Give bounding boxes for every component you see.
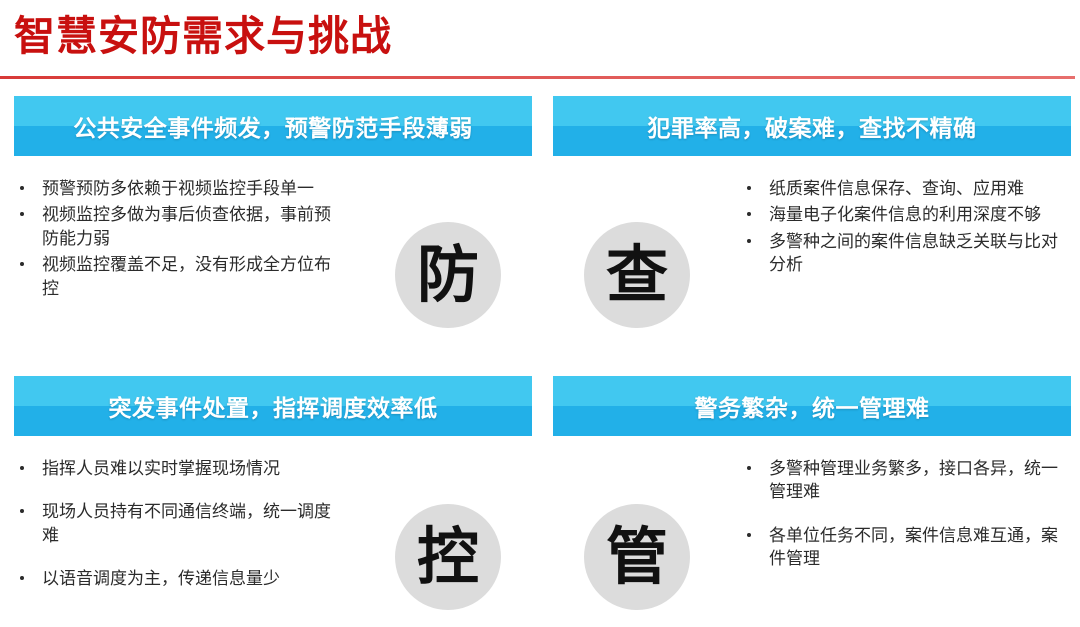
list-item: 预警预防多依赖于视频监控手段单一 (14, 178, 344, 201)
quadrant-header-bar-bottom-left: 突发事件处置，指挥调度效率低 (14, 376, 532, 436)
list-item: 指挥人员难以实时掌握现场情况 (14, 458, 344, 481)
list-item: 各单位任务不同，案件信息难互通，案 件管理 (741, 525, 1071, 572)
quadrant-header-label: 公共安全事件频发，预警防范手段薄弱 (73, 109, 473, 143)
list-item: 多警种之间的案件信息缺乏关联与比对分析 (741, 231, 1071, 278)
bullet-dot-icon (747, 239, 751, 243)
glyph-character: 管 (606, 526, 668, 588)
bullet-list-top-right: 纸质案件信息保存、查询、应用难 海量电子化案件信息的利用深度不够 多警种之间的案… (741, 178, 1071, 278)
glyph-character: 防 (417, 244, 479, 306)
page-title: 智慧安防需求与挑战 (14, 6, 392, 68)
list-item-text: 多警种之间的案件信息缺乏关联与比对分析 (769, 232, 1058, 275)
quadrant-bottom-right: 警务繁杂，统一管理难 多警种管理业务繁多，接口各异，统一管理难 各单位任务不同，… (553, 376, 1071, 592)
slide-canvas: 智慧安防需求与挑战 公共安全事件频发，预警防范手段薄弱 预警预防多依赖于视频监控… (0, 0, 1080, 627)
quadrant-header-label: 警务繁杂，统一管理难 (695, 389, 930, 423)
quadrant-header-label: 犯罪率高，破案难，查找不精确 (648, 109, 977, 143)
list-item-text: 预警预防多依赖于视频监控手段单一 (42, 179, 314, 199)
glyph-character: 查 (606, 244, 668, 306)
list-item: 视频监控覆盖不足，没有形成全方位布控 (14, 254, 344, 301)
bullet-dot-icon (747, 533, 751, 537)
quadrant-body-bottom-left: 指挥人员难以实时掌握现场情况 现场人员持有不同通信终端，统一调度难 以语音调度为… (14, 458, 532, 592)
list-item-text: 海量电子化案件信息的利用深度不够 (769, 205, 1041, 225)
list-item-text: 各单位任务不同，案件信息难互通，案 件管理 (769, 526, 1058, 569)
glyph-circle-fang: 防 (395, 222, 501, 328)
list-item-text: 视频监控覆盖不足，没有形成全方位布控 (42, 255, 331, 298)
list-item-text: 纸质案件信息保存、查询、应用难 (769, 179, 1024, 199)
quadrant-top-right: 犯罪率高，破案难，查找不精确 纸质案件信息保存、查询、应用难 海量电子化案件信息… (553, 96, 1071, 281)
glyph-character: 控 (417, 526, 479, 588)
bullet-dot-icon (20, 509, 24, 513)
quadrant-body-top-left: 预警预防多依赖于视频监控手段单一 视频监控多做为事后侦查依据，事前预防能力弱 视… (14, 178, 532, 301)
bullet-dot-icon (20, 262, 24, 266)
bullet-list-bottom-right: 多警种管理业务繁多，接口各异，统一管理难 各单位任务不同，案件信息难互通，案 件… (741, 458, 1071, 572)
bullet-dot-icon (20, 212, 24, 216)
glyph-circle-guan: 管 (584, 504, 690, 610)
list-item: 海量电子化案件信息的利用深度不够 (741, 204, 1071, 227)
list-item: 现场人员持有不同通信终端，统一调度难 (14, 501, 344, 548)
list-item: 多警种管理业务繁多，接口各异，统一管理难 (741, 458, 1071, 505)
list-item-text: 以语音调度为主，传递信息量少 (42, 569, 280, 589)
quadrant-header-bar-top-right: 犯罪率高，破案难，查找不精确 (553, 96, 1071, 156)
bullet-dot-icon (20, 576, 24, 580)
glyph-circle-kong: 控 (395, 504, 501, 610)
quadrant-top-left: 公共安全事件频发，预警防范手段薄弱 预警预防多依赖于视频监控手段单一 视频监控多… (14, 96, 532, 304)
bullet-dot-icon (747, 186, 751, 190)
glyph-circle-cha: 查 (584, 222, 690, 328)
list-item-text: 现场人员持有不同通信终端，统一调度难 (42, 502, 331, 545)
bullet-list-bottom-left: 指挥人员难以实时掌握现场情况 现场人员持有不同通信终端，统一调度难 以语音调度为… (14, 458, 344, 592)
quadrant-header-bar-top-left: 公共安全事件频发，预警防范手段薄弱 (14, 96, 532, 156)
quadrant-header-label: 突发事件处置，指挥调度效率低 (109, 389, 438, 423)
list-item-text: 视频监控多做为事后侦查依据，事前预防能力弱 (42, 205, 331, 248)
bullet-dot-icon (747, 212, 751, 216)
quadrant-body-bottom-right: 多警种管理业务繁多，接口各异，统一管理难 各单位任务不同，案件信息难互通，案 件… (553, 458, 1071, 572)
quadrant-header-bar-bottom-right: 警务繁杂，统一管理难 (553, 376, 1071, 436)
title-divider-rule (0, 76, 1075, 79)
list-item-text: 多警种管理业务繁多，接口各异，统一管理难 (769, 459, 1058, 502)
list-item-text: 指挥人员难以实时掌握现场情况 (42, 459, 280, 479)
quadrant-body-top-right: 纸质案件信息保存、查询、应用难 海量电子化案件信息的利用深度不够 多警种之间的案… (553, 178, 1071, 278)
list-item: 以语音调度为主，传递信息量少 (14, 568, 344, 591)
list-item: 视频监控多做为事后侦查依据，事前预防能力弱 (14, 204, 344, 251)
quadrant-bottom-left: 突发事件处置，指挥调度效率低 指挥人员难以实时掌握现场情况 现场人员持有不同通信… (14, 376, 532, 612)
bullet-list-top-left: 预警预防多依赖于视频监控手段单一 视频监控多做为事后侦查依据，事前预防能力弱 视… (14, 178, 344, 301)
list-item: 纸质案件信息保存、查询、应用难 (741, 178, 1071, 201)
bullet-dot-icon (20, 466, 24, 470)
bullet-dot-icon (20, 186, 24, 190)
bullet-dot-icon (747, 466, 751, 470)
